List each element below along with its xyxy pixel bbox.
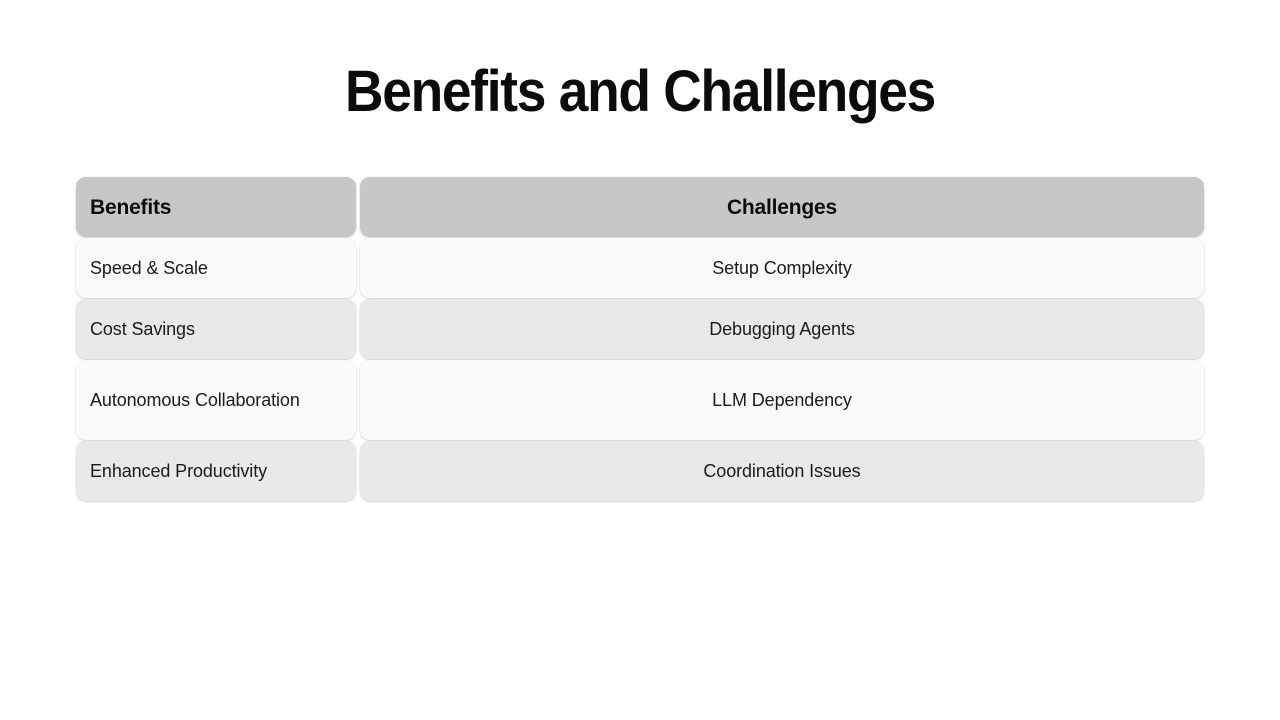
table-header-challenges: Challenges bbox=[360, 177, 1204, 237]
challenge-cell-label: Debugging Agents bbox=[374, 317, 1190, 342]
challenge-cell: Setup Complexity bbox=[360, 238, 1204, 298]
comparison-table: Benefits Challenges Speed & Scale Setup … bbox=[76, 177, 1204, 502]
challenge-cell: Debugging Agents bbox=[360, 299, 1204, 359]
table-row: Enhanced Productivity Coordination Issue… bbox=[76, 441, 1204, 501]
benefit-cell-label: Autonomous Collaboration bbox=[90, 388, 342, 413]
challenge-cell-label: Setup Complexity bbox=[374, 256, 1190, 281]
table-row: Cost Savings Debugging Agents bbox=[76, 299, 1204, 359]
benefit-cell-label: Enhanced Productivity bbox=[90, 459, 342, 484]
table-row: Autonomous Collaboration LLM Dependency bbox=[76, 360, 1204, 440]
slide-canvas: Benefits and Challenges Benefits Challen… bbox=[0, 0, 1280, 720]
challenge-cell: LLM Dependency bbox=[360, 360, 1204, 440]
benefit-cell-label: Cost Savings bbox=[90, 317, 342, 342]
challenge-cell: Coordination Issues bbox=[360, 441, 1204, 501]
table-row: Speed & Scale Setup Complexity bbox=[76, 238, 1204, 298]
table-header-benefits-label: Benefits bbox=[90, 195, 342, 220]
table-header-benefits: Benefits bbox=[76, 177, 356, 237]
benefit-cell: Autonomous Collaboration bbox=[76, 360, 356, 440]
benefit-cell: Cost Savings bbox=[76, 299, 356, 359]
benefit-cell: Enhanced Productivity bbox=[76, 441, 356, 501]
challenge-cell-label: Coordination Issues bbox=[374, 459, 1190, 484]
table-header-row: Benefits Challenges bbox=[76, 177, 1204, 237]
benefit-cell-label: Speed & Scale bbox=[90, 256, 342, 281]
challenge-cell-label: LLM Dependency bbox=[374, 388, 1190, 413]
table-header-challenges-label: Challenges bbox=[374, 195, 1190, 220]
page-title: Benefits and Challenges bbox=[51, 56, 1229, 128]
benefit-cell: Speed & Scale bbox=[76, 238, 356, 298]
